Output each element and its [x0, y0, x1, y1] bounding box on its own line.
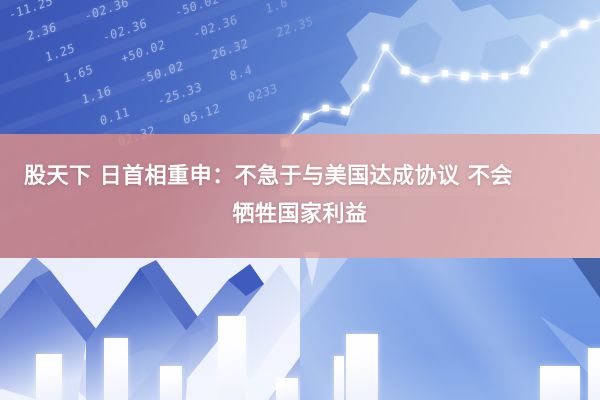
headline-line-2: 牺牲国家利益: [232, 196, 367, 234]
news-thumbnail-image: -99.02-02.3521.02-09.33-11.2545.02-11.25…: [0, 0, 600, 400]
chart-node-marker: [561, 30, 568, 37]
headline-block: 股天下 日首相重申：不急于与美国达成协议 不会 牺牲国家利益: [0, 134, 600, 258]
chart-node-marker: [362, 84, 369, 91]
chart-node-marker: [580, 20, 589, 29]
bar-column: [218, 316, 246, 400]
chart-node-marker: [401, 66, 410, 75]
bar-column: [334, 356, 344, 400]
ticker-number: 2.36: [26, 20, 58, 44]
chart-node-marker: [302, 113, 309, 120]
ticker-number: 1.16: [81, 83, 113, 107]
bar-column: [540, 366, 580, 400]
bar-column: [276, 378, 298, 400]
chart-node-marker: [442, 70, 449, 77]
chart-node-marker: [382, 44, 389, 51]
headline-line-1: 股天下 日首相重申：不急于与美国达成协议 不会: [24, 158, 513, 196]
bar-column: [104, 338, 128, 400]
chart-node-marker: [520, 66, 529, 75]
ticker-number: 0.11: [99, 104, 131, 128]
chart-node-marker: [481, 73, 488, 80]
chart-node-marker: [422, 76, 429, 83]
ticker-number: 05.12: [182, 101, 221, 127]
chart-node-marker: [541, 41, 548, 48]
bar-column: [160, 366, 182, 400]
bar-column: [36, 354, 62, 400]
chart-node-marker: [501, 73, 508, 80]
ticker-number: 1.25: [44, 41, 76, 65]
ticker-number: 1.65: [62, 62, 94, 86]
bar-column: [588, 348, 600, 400]
chart-line: [286, 19, 600, 143]
chart-node-marker: [460, 72, 469, 81]
chart-node-marker: [323, 105, 330, 112]
bar-column: [346, 334, 378, 400]
